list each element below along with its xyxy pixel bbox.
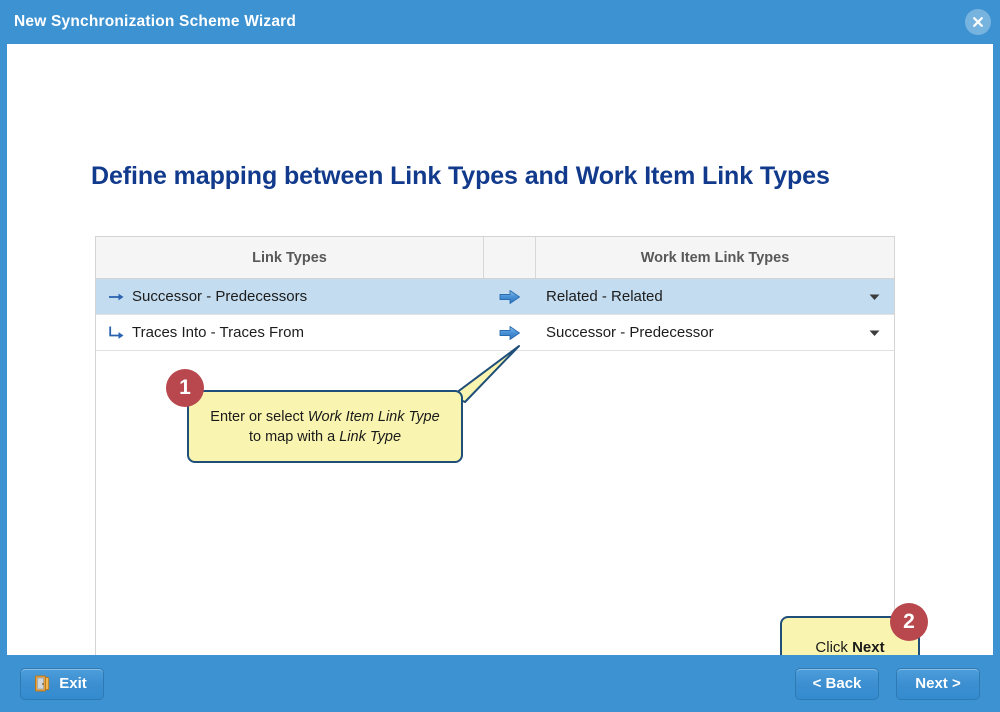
callout-2-text-strong: Next <box>852 639 885 655</box>
callout-2-badge: 2 <box>890 603 928 641</box>
door-exit-icon <box>33 674 52 693</box>
next-button[interactable]: Next > <box>896 668 980 700</box>
blue-arrow-right-icon <box>499 325 521 341</box>
column-header-mapping <box>484 237 536 278</box>
cell-map-arrow <box>484 315 536 350</box>
column-header-link-types: Link Types <box>96 237 484 278</box>
wizard-window: New Synchronization Scheme Wizard Define… <box>0 0 1000 712</box>
callout-2-text-prefix: Click <box>815 639 852 655</box>
arrow-elbow-right-icon <box>108 325 124 341</box>
callout-1: Enter or select Work Item Link Type to m… <box>187 390 463 463</box>
title-bar: New Synchronization Scheme Wizard <box>0 0 1000 44</box>
cell-map-arrow <box>484 279 536 314</box>
table-row[interactable]: Traces Into - Traces From <box>96 315 894 351</box>
cell-work-item-link-type[interactable]: Successor - Predecessor <box>536 315 894 350</box>
window-title: New Synchronization Scheme Wizard <box>14 13 296 31</box>
link-type-label: Successor - Predecessors <box>132 288 307 305</box>
footer-navigation: < Back Next > <box>795 668 980 700</box>
column-header-work-item-link-types: Work Item Link Types <box>536 237 894 278</box>
work-item-link-type-value: Related - Related <box>546 288 663 305</box>
page-title: Define mapping between Link Types and Wo… <box>91 162 830 191</box>
callout-1-badge: 1 <box>166 369 204 407</box>
work-item-link-type-value: Successor - Predecessor <box>546 324 714 341</box>
callout-1-line1-prefix: Enter or select <box>210 409 308 425</box>
cell-link-type: Traces Into - Traces From <box>96 315 484 350</box>
back-button[interactable]: < Back <box>795 668 879 700</box>
arrow-right-icon <box>108 290 124 304</box>
link-type-label: Traces Into - Traces From <box>132 324 304 341</box>
exit-button-label: Exit <box>59 675 87 692</box>
table-header-row: Link Types Work Item Link Types <box>96 237 894 279</box>
table-row[interactable]: Successor - Predecessors <box>96 279 894 315</box>
cell-link-type: Successor - Predecessors <box>96 279 484 314</box>
callout-1-line1-emphasis: Work Item Link Type <box>308 409 440 425</box>
content-panel: Define mapping between Link Types and Wo… <box>7 44 993 655</box>
callout-1-line2-emphasis: Link Type <box>339 429 401 445</box>
chevron-down-icon[interactable] <box>869 293 880 300</box>
blue-arrow-right-icon <box>499 289 521 305</box>
cell-work-item-link-type[interactable]: Related - Related <box>536 279 894 314</box>
exit-button[interactable]: Exit <box>20 668 104 700</box>
close-icon[interactable] <box>965 9 991 35</box>
chevron-down-icon[interactable] <box>869 329 880 336</box>
callout-1-line2-prefix: to map with a <box>249 429 339 445</box>
footer-bar: Exit < Back Next > <box>0 655 1000 712</box>
